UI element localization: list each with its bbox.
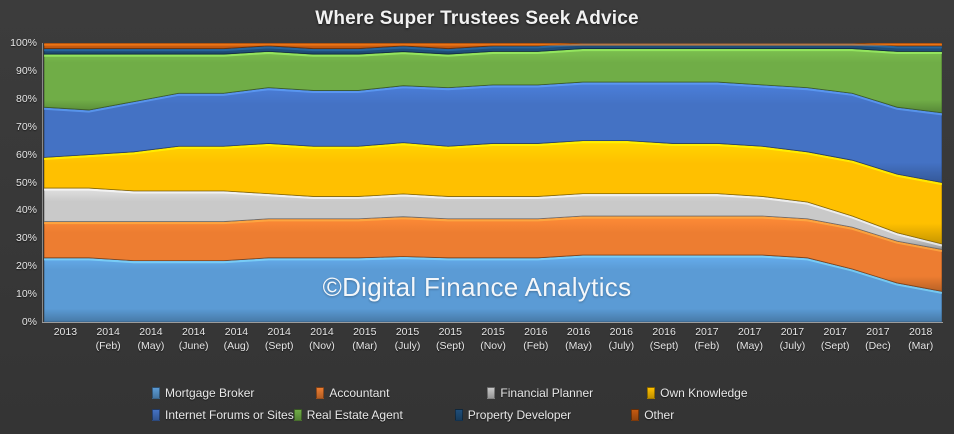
legend-color-swatch xyxy=(455,409,463,421)
legend-label: Accountant xyxy=(329,386,389,400)
legend-label: Property Developer xyxy=(468,408,571,422)
x-axis-tick: 2017(Dec) xyxy=(857,326,900,372)
x-tick-month: (Sept) xyxy=(643,340,686,354)
x-tick-year: 2015 xyxy=(472,326,515,340)
plot-area xyxy=(44,43,942,322)
x-tick-month: (May) xyxy=(557,340,600,354)
legend-item[interactable]: Internet Forums or Sites xyxy=(152,408,294,422)
x-axis-tick: 2015(Nov) xyxy=(472,326,515,372)
x-axis-tick: 2014(Sept) xyxy=(258,326,301,372)
x-axis-tick: 2017(Sept) xyxy=(814,326,857,372)
x-tick-month: (July) xyxy=(386,340,429,354)
y-axis-tick: 10% xyxy=(16,288,37,300)
x-tick-month: (July) xyxy=(600,340,643,354)
legend-color-swatch xyxy=(487,387,495,399)
x-tick-year: 2016 xyxy=(514,326,557,340)
x-axis-tick: 2014(Feb) xyxy=(87,326,130,372)
y-axis-tick: 70% xyxy=(16,121,37,133)
legend-color-swatch xyxy=(152,409,160,421)
legend-item[interactable]: Property Developer xyxy=(455,408,571,422)
y-axis-line xyxy=(42,43,43,323)
legend-color-swatch xyxy=(316,387,324,399)
x-axis-tick: 2017(May) xyxy=(728,326,771,372)
legend-label: Own Knowledge xyxy=(660,386,747,400)
x-tick-year: 2014 xyxy=(87,326,130,340)
x-tick-month: (Mar) xyxy=(343,340,386,354)
stacked-area-plot xyxy=(44,43,942,322)
x-axis-tick: 2018(Mar) xyxy=(899,326,942,372)
x-tick-month: (Mar) xyxy=(899,340,942,354)
x-tick-month: (July) xyxy=(771,340,814,354)
x-tick-year: 2015 xyxy=(429,326,472,340)
x-tick-year: 2016 xyxy=(600,326,643,340)
x-axis-tick: 2014(Aug) xyxy=(215,326,258,372)
x-axis-tick: 2016(Feb) xyxy=(514,326,557,372)
x-tick-month: (June) xyxy=(172,340,215,354)
legend-item[interactable]: Own Knowledge xyxy=(647,386,747,400)
y-axis-tick: 80% xyxy=(16,93,37,105)
y-axis-tick: 20% xyxy=(16,260,37,272)
x-axis-tick: 2014(May) xyxy=(130,326,173,372)
legend-item[interactable]: Accountant xyxy=(316,386,389,400)
legend-row-1: Mortgage BrokerAccountantFinancial Plann… xyxy=(0,382,954,404)
legend-item[interactable]: Financial Planner xyxy=(487,386,593,400)
legend-color-swatch xyxy=(294,409,302,421)
x-tick-month: (Nov) xyxy=(472,340,515,354)
x-axis-tick: 2015(Sept) xyxy=(429,326,472,372)
y-axis-tick: 100% xyxy=(10,37,37,49)
legend-color-swatch xyxy=(152,387,160,399)
x-axis-tick: 2015(Mar) xyxy=(343,326,386,372)
x-axis-tick: 2016(July) xyxy=(600,326,643,372)
legend-item[interactable]: Real Estate Agent xyxy=(294,408,403,422)
x-tick-month: (Sept) xyxy=(814,340,857,354)
x-axis-tick: 2013 xyxy=(44,326,87,372)
x-tick-month: (Feb) xyxy=(514,340,557,354)
area-series-mortgage-broker[interactable] xyxy=(44,255,942,322)
legend-label: Mortgage Broker xyxy=(165,386,254,400)
y-axis-tick: 50% xyxy=(16,177,37,189)
x-tick-year: 2014 xyxy=(130,326,173,340)
legend-row-2: Internet Forums or SitesReal Estate Agen… xyxy=(0,404,954,426)
x-tick-month: (May) xyxy=(728,340,771,354)
x-tick-month: (Dec) xyxy=(857,340,900,354)
legend-label: Other xyxy=(644,408,674,422)
x-tick-year: 2018 xyxy=(899,326,942,340)
x-tick-year: 2017 xyxy=(857,326,900,340)
x-tick-year: 2016 xyxy=(643,326,686,340)
x-tick-year: 2015 xyxy=(386,326,429,340)
x-axis-tick: 2017(Feb) xyxy=(685,326,728,372)
x-axis-tick: 2016(May) xyxy=(557,326,600,372)
y-axis: 0%10%20%30%40%50%60%70%80%90%100% xyxy=(0,43,40,322)
y-axis-tick: 90% xyxy=(16,65,37,77)
chart-title: Where Super Trustees Seek Advice xyxy=(0,8,954,30)
x-tick-year: 2014 xyxy=(215,326,258,340)
legend-color-swatch xyxy=(631,409,639,421)
y-axis-tick: 60% xyxy=(16,149,37,161)
x-tick-month: (May) xyxy=(130,340,173,354)
x-tick-year: 2016 xyxy=(557,326,600,340)
x-tick-year: 2013 xyxy=(44,326,87,340)
y-axis-tick: 40% xyxy=(16,204,37,216)
x-tick-year: 2017 xyxy=(814,326,857,340)
x-tick-month: (Feb) xyxy=(87,340,130,354)
x-axis: 20132014(Feb)2014(May)2014(June)2014(Aug… xyxy=(44,326,942,372)
y-axis-tick: 30% xyxy=(16,232,37,244)
legend-color-swatch xyxy=(647,387,655,399)
x-tick-year: 2015 xyxy=(343,326,386,340)
x-tick-month: (Feb) xyxy=(685,340,728,354)
x-tick-month: (Sept) xyxy=(258,340,301,354)
x-tick-year: 2017 xyxy=(685,326,728,340)
legend-label: Financial Planner xyxy=(500,386,593,400)
x-axis-tick: 2017(July) xyxy=(771,326,814,372)
legend-item[interactable]: Other xyxy=(631,408,674,422)
legend-label: Real Estate Agent xyxy=(307,408,403,422)
y-axis-tick: 0% xyxy=(22,316,37,328)
x-tick-month: (Aug) xyxy=(215,340,258,354)
x-tick-year: 2014 xyxy=(301,326,344,340)
x-axis-tick: 2016(Sept) xyxy=(643,326,686,372)
x-axis-line xyxy=(42,322,943,323)
chart-legend: Mortgage BrokerAccountantFinancial Plann… xyxy=(0,382,954,430)
x-tick-month: (Nov) xyxy=(301,340,344,354)
x-axis-tick: 2014(June) xyxy=(172,326,215,372)
x-tick-year: 2014 xyxy=(172,326,215,340)
x-tick-month: (Sept) xyxy=(429,340,472,354)
legend-item[interactable]: Mortgage Broker xyxy=(152,386,254,400)
chart-container: Where Super Trustees Seek Advice 0%10%20… xyxy=(0,0,954,434)
x-tick-year: 2017 xyxy=(728,326,771,340)
x-tick-year: 2014 xyxy=(258,326,301,340)
x-tick-year: 2017 xyxy=(771,326,814,340)
x-axis-tick: 2015(July) xyxy=(386,326,429,372)
legend-label: Internet Forums or Sites xyxy=(165,408,294,422)
x-axis-tick: 2014(Nov) xyxy=(301,326,344,372)
